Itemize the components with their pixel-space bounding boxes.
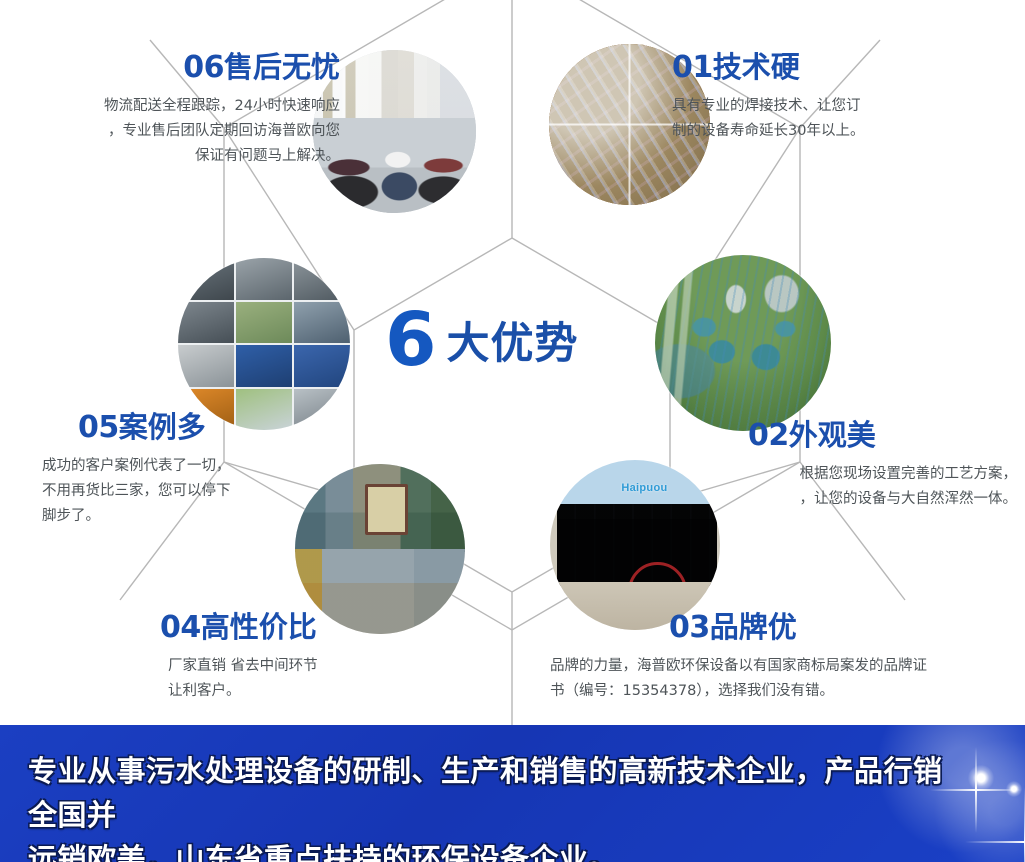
feature-03-code: 03: [669, 610, 710, 645]
feature-01-title: 技术硬: [713, 50, 800, 84]
feature-05-body: 成功的客户案例代表了一切， 不用再货比三家，您可以停下 脚步了。: [20, 454, 310, 529]
feature-05-body-line-1: 成功的客户案例代表了一切，: [42, 454, 310, 479]
center-title: 6 大优势: [385, 295, 645, 385]
feature-06-block: 06售后无忧 物流配送全程跟踪，24小时快速响应 ，专业售后团队定期回访海普欧向…: [10, 44, 340, 169]
feature-06-body-line-2: ，专业售后团队定期回访海普欧向您: [10, 119, 340, 144]
feature-01-heading: 01技术硬: [672, 44, 1012, 86]
banner-line-2: 远销欧美，山东省重点扶持的环保设备企业。: [28, 837, 958, 862]
feature-03-title: 品牌优: [710, 610, 797, 644]
feature-05-heading: 05案例多: [20, 404, 310, 446]
feature-05-block: 05案例多 成功的客户案例代表了一切， 不用再货比三家，您可以停下 脚步了。: [20, 404, 310, 529]
feature-04-title: 高性价比: [201, 610, 317, 644]
feature-05-body-line-2: 不用再货比三家，您可以停下: [42, 479, 310, 504]
aerial-plant-photo: [655, 255, 831, 431]
feature-03-body-line-2: 书（编号：15354378），选择我们没有错。: [550, 679, 1016, 704]
sparkle-dot-2: [1006, 781, 1022, 797]
feature-05-code: 05: [78, 410, 119, 445]
bottom-banner: 专业从事污水处理设备的研制、生产和销售的高新技术企业，产品行销全国并 远销欧美，…: [0, 725, 1025, 862]
banner-text: 专业从事污水处理设备的研制、生产和销售的高新技术企业，产品行销全国并 远销欧美，…: [28, 749, 958, 862]
feature-04-body-line-2: 让利客户。: [168, 679, 420, 704]
feature-02-title: 外观美: [789, 418, 876, 452]
feature-01-body: 具有专业的焊接技术、让您订 制的设备寿命延长30年以上。: [672, 94, 1012, 144]
feature-06-code: 06: [183, 50, 224, 85]
feature-04-block: 04高性价比 厂家直销 省去中间环节 让利客户。: [120, 604, 420, 704]
feature-03-body-line-1: 品牌的力量，海普欧环保设备以有国家商标局案发的品牌证: [550, 654, 1016, 679]
feature-06-body-line-1: 物流配送全程跟踪，24小时快速响应: [10, 94, 340, 119]
center-number: 6: [385, 303, 437, 377]
infographic-root: Haipuou 06售后无忧 物流配送全程跟踪，24小时快速响应 ，专业售后团队…: [0, 0, 1025, 862]
feature-02-body: 根据您现场设置完善的工艺方案， ，让您的设备与大自然浑然一体。: [700, 462, 1025, 512]
gate-arch: [332, 578, 427, 592]
feature-02-heading: 02外观美: [700, 412, 1025, 454]
feature-05-body-line-3: 脚步了。: [42, 504, 310, 529]
feature-06-body: 物流配送全程跟踪，24小时快速响应 ，专业售后团队定期回访海普欧向您 保证有问题…: [10, 94, 340, 169]
center-suffix: 大优势: [447, 309, 579, 371]
feature-06-title: 售后无忧: [224, 50, 340, 84]
feature-02-body-line-2: ，让您的设备与大自然浑然一体。: [700, 487, 1017, 512]
feature-03-body: 品牌的力量，海普欧环保设备以有国家商标局案发的品牌证 书（编号：15354378…: [536, 654, 1016, 704]
feature-02-block: 02外观美 根据您现场设置完善的工艺方案， ，让您的设备与大自然浑然一体。: [700, 412, 1025, 512]
feature-02-body-line-1: 根据您现场设置完善的工艺方案，: [700, 462, 1017, 487]
feature-01-block: 01技术硬 具有专业的焊接技术、让您订 制的设备寿命延长30年以上。: [672, 44, 1012, 144]
feature-04-body: 厂家直销 省去中间环节 让利客户。: [120, 654, 420, 704]
feature-04-code: 04: [160, 610, 201, 645]
feature-06-body-line-3: 保证有问题马上解决。: [10, 144, 340, 169]
feature-01-code: 01: [672, 50, 713, 85]
feature-03-block: 03品牌优 品牌的力量，海普欧环保设备以有国家商标局案发的品牌证 书（编号：15…: [536, 604, 1016, 704]
feature-02-image: [655, 255, 831, 431]
sparkle-icon-2: [965, 787, 1025, 862]
feature-06-heading: 06售后无忧: [10, 44, 340, 86]
feature-01-body-line-1: 具有专业的焊接技术、让您订: [672, 94, 1012, 119]
feature-02-code: 02: [748, 418, 789, 453]
feature-04-heading: 04高性价比: [120, 604, 420, 646]
banner-line-1: 专业从事污水处理设备的研制、生产和销售的高新技术企业，产品行销全国并: [28, 749, 958, 837]
sparkle-dot-1: [968, 765, 994, 791]
feature-03-heading: 03品牌优: [536, 604, 1016, 646]
gate-sign: [365, 484, 408, 534]
feature-04-body-line-1: 厂家直销 省去中间环节: [168, 654, 420, 679]
haipuou-logo: Haipuou: [621, 482, 667, 494]
feature-01-body-line-2: 制的设备寿命延长30年以上。: [672, 119, 1012, 144]
feature-05-title: 案例多: [119, 410, 206, 444]
